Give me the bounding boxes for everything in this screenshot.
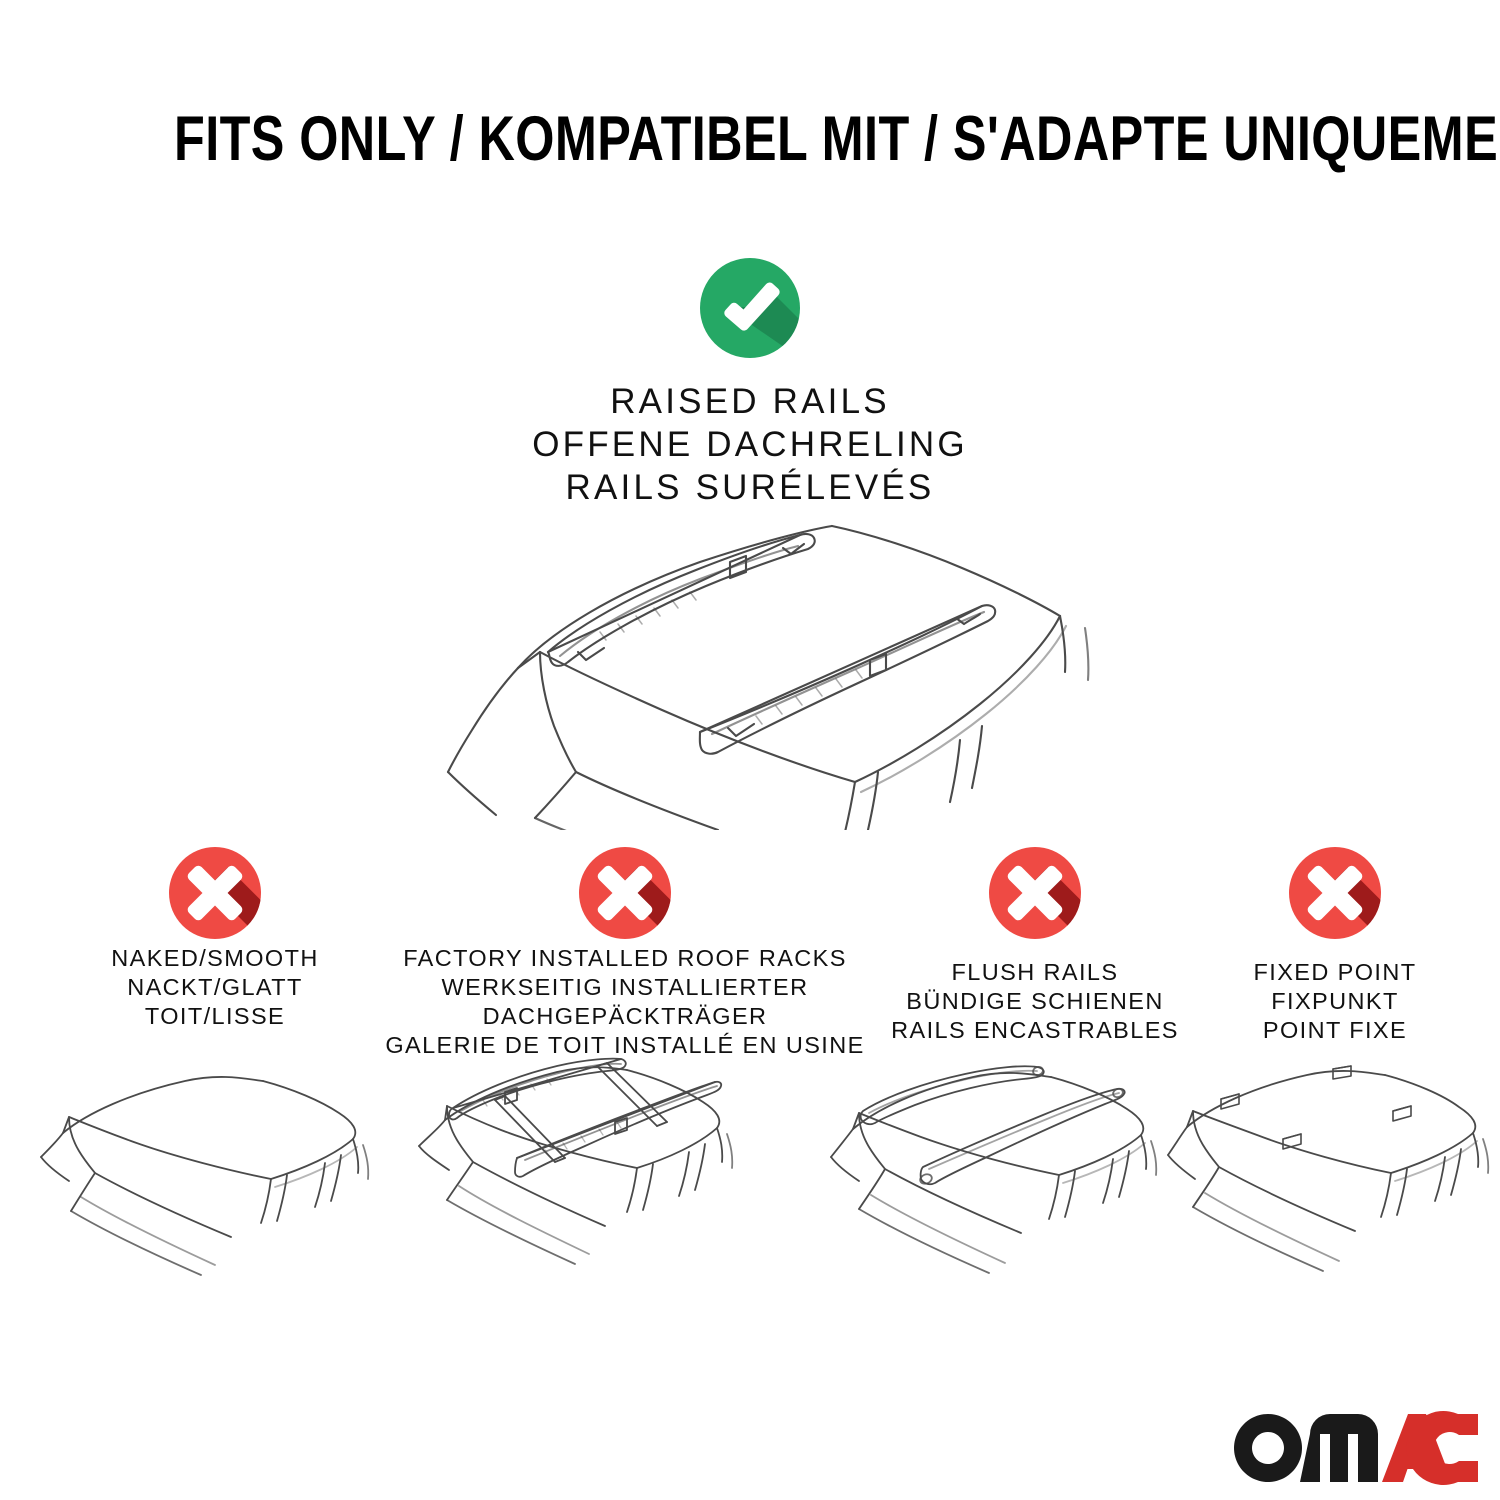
label-line-de-2: DACHGEPÄCKTRÄGER [375, 1002, 875, 1031]
label-line-fr: POINT FIXE [1195, 1016, 1475, 1045]
label-line-de: FIXPUNKT [1195, 987, 1475, 1016]
page-title: FITS ONLY / KOMPATIBEL MIT / S'ADAPTE UN… [174, 108, 1500, 171]
x-circle-icon [1289, 847, 1381, 939]
label-line-de: NACKT/GLATT [10, 973, 420, 1002]
label-line-en: NAKED/SMOOTH [10, 944, 420, 973]
label-line-en: FIXED POINT [1195, 958, 1475, 987]
x-circle-icon [989, 847, 1081, 939]
x-circle-glyph [169, 847, 261, 939]
x-circle-icon [169, 847, 261, 939]
car-roof-raised-rails-illustration [400, 500, 1100, 830]
car-roof-naked-smooth-illustration [35, 1055, 405, 1305]
incompatible-label-flush-rails: FLUSH RAILS BÜNDIGE SCHIENEN RAILS ENCAS… [845, 958, 1225, 1045]
check-circle-glyph [700, 258, 800, 358]
label-line-fr: TOIT/LISSE [10, 1002, 420, 1031]
compatible-label-line-en: RAISED RAILS [250, 380, 1250, 423]
x-circle-icon [579, 847, 671, 939]
label-line-en: FLUSH RAILS [845, 958, 1225, 987]
car-roof-factory-racks-illustration [405, 1050, 780, 1305]
incompatible-label-factory-roof-racks: FACTORY INSTALLED ROOF RACKS WERKSEITIG … [375, 944, 875, 1060]
check-circle-icon [700, 258, 800, 358]
omac-logo [1232, 1408, 1478, 1488]
omac-logo-mark [1232, 1408, 1478, 1488]
label-line-de-1: WERKSEITIG INSTALLIERTER [375, 973, 875, 1002]
title-bar: FITS ONLY / KOMPATIBEL MIT / S'ADAPTE UN… [0, 108, 1500, 171]
logo-letter-c [1406, 1411, 1478, 1485]
x-circle-glyph [579, 847, 671, 939]
label-line-de: BÜNDIGE SCHIENEN [845, 987, 1225, 1016]
car-roof-fixed-point-illustration [1165, 1055, 1500, 1305]
incompatible-label-fixed-point: FIXED POINT FIXPUNKT POINT FIXE [1195, 958, 1475, 1045]
compatible-label-line-de: OFFENE DACHRELING [250, 423, 1250, 466]
label-line-fr: RAILS ENCASTRABLES [845, 1016, 1225, 1045]
logo-letter-m [1300, 1414, 1378, 1482]
logo-letter-o [1234, 1414, 1302, 1482]
x-circle-glyph [1289, 847, 1381, 939]
label-line-en: FACTORY INSTALLED ROOF RACKS [375, 944, 875, 973]
car-roof-flush-rails-illustration [825, 1055, 1195, 1305]
x-circle-glyph [989, 847, 1081, 939]
compatible-label: RAISED RAILS OFFENE DACHRELING RAILS SUR… [250, 380, 1250, 509]
incompatible-label-naked-smooth: NAKED/SMOOTH NACKT/GLATT TOIT/LISSE [10, 944, 420, 1031]
